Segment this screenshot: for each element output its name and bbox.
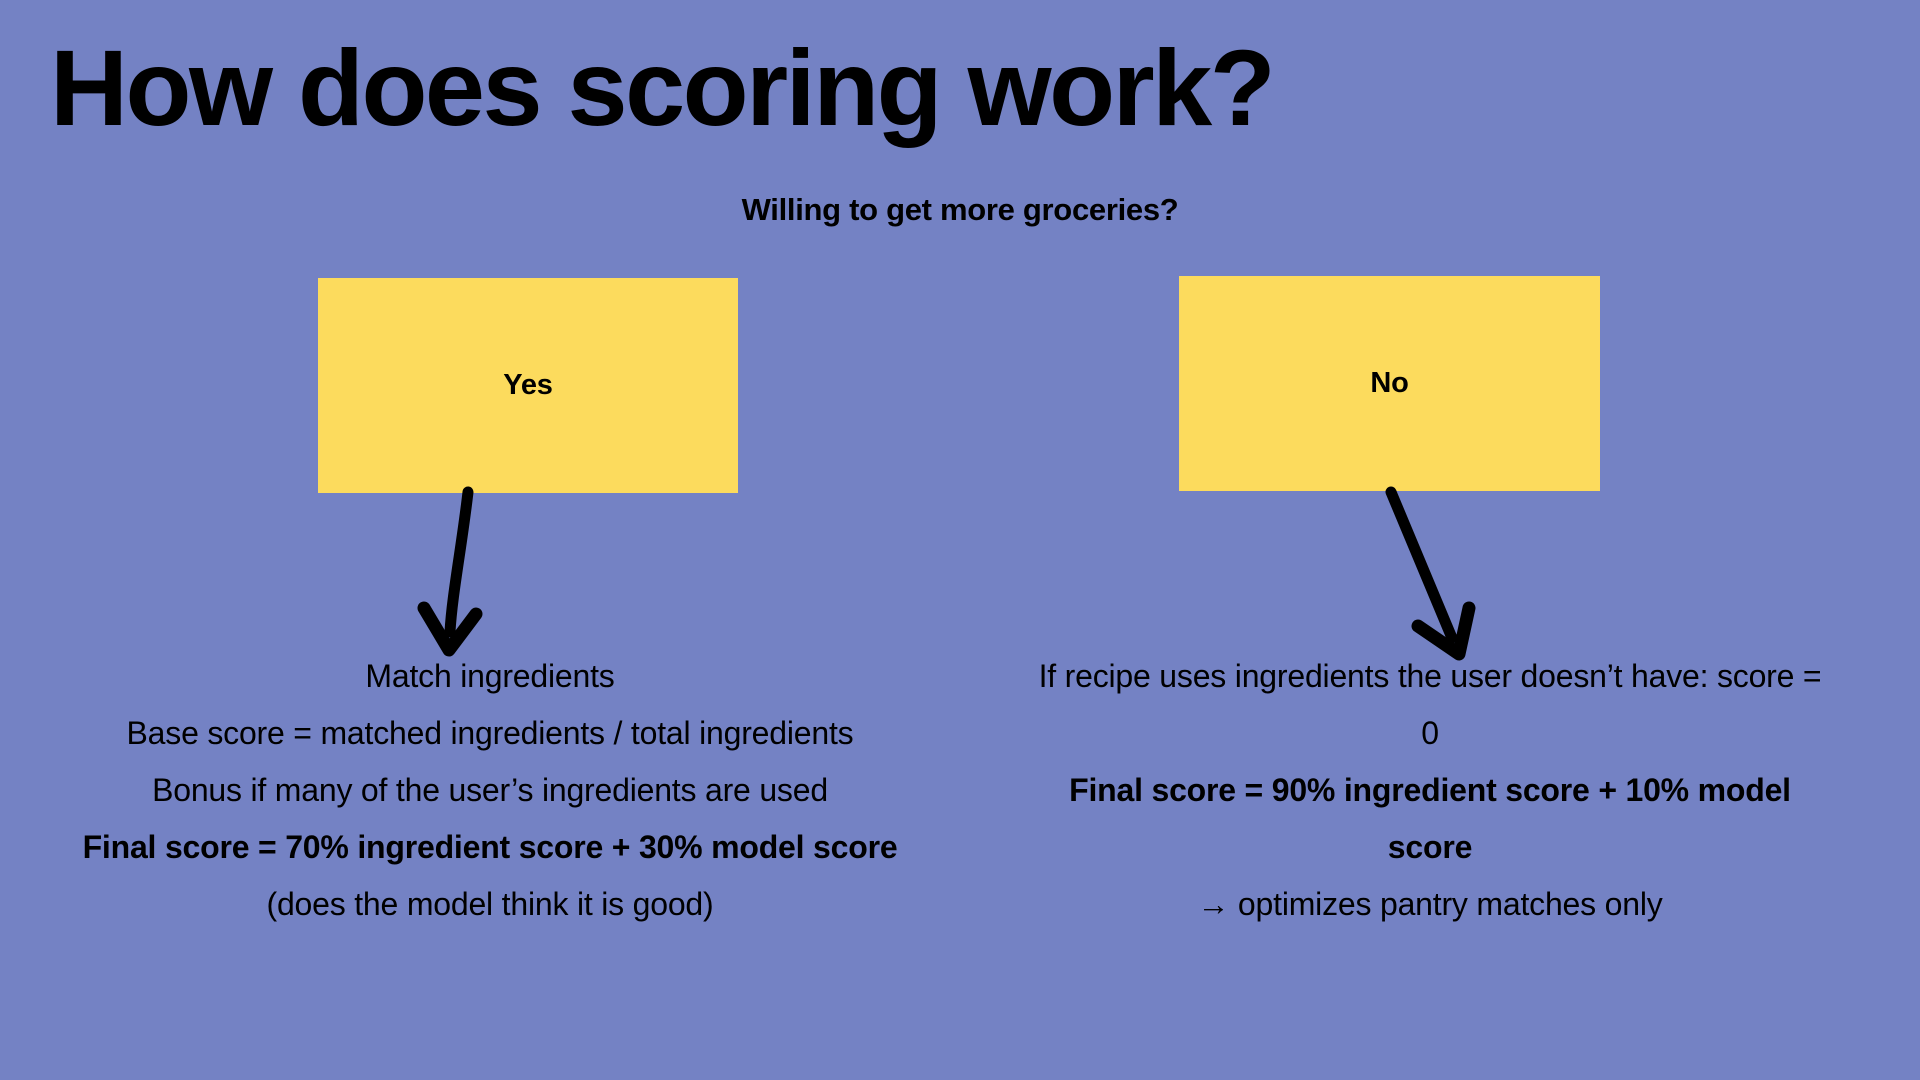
- yes-detail-line-1: Match ingredients: [70, 648, 910, 705]
- page-title: How does scoring work?: [50, 28, 1273, 149]
- branch-no-description: If recipe uses ingredients the user does…: [1030, 648, 1830, 933]
- yes-detail-line-2: Base score = matched ingredients / total…: [70, 705, 910, 762]
- decision-box-no[interactable]: No: [1179, 276, 1600, 491]
- yes-final-score-note: (does the model think it is good): [267, 886, 714, 922]
- no-optimization-note: → optimizes pantry matches only: [1030, 876, 1830, 933]
- yes-detail-line-3: Bonus if many of the user’s ingredients …: [70, 762, 910, 819]
- decision-question: Willing to get more groceries?: [0, 192, 1920, 228]
- yes-final-score-formula: Final score = 70% ingredient score + 30%…: [83, 829, 898, 865]
- no-detail-line-1: If recipe uses ingredients the user does…: [1030, 648, 1830, 762]
- arrow-yes-down-icon: [424, 492, 476, 650]
- no-final-score-formula: Final score = 90% ingredient score + 10%…: [1030, 762, 1830, 876]
- decision-box-no-label: No: [1370, 367, 1408, 400]
- decision-box-yes[interactable]: Yes: [318, 278, 738, 493]
- branch-yes-description: Match ingredients Base score = matched i…: [70, 648, 910, 933]
- decision-box-yes-label: Yes: [503, 369, 552, 402]
- arrow-no-down-icon: [1391, 492, 1469, 654]
- slide-canvas: How does scoring work? Willing to get mo…: [0, 0, 1920, 1080]
- yes-final-score-line: Final score = 70% ingredient score + 30%…: [70, 819, 910, 933]
